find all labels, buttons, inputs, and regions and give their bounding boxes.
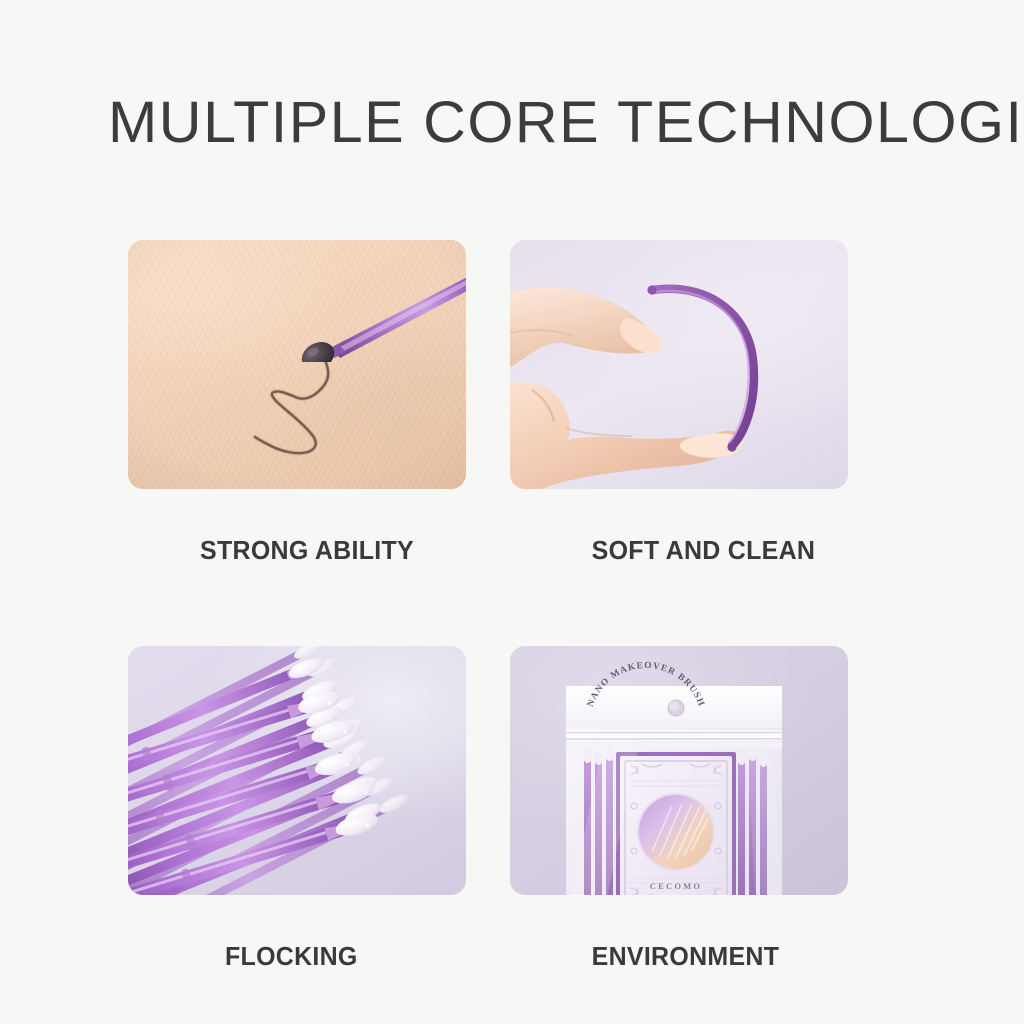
- brush-bundle-icon: [128, 646, 466, 895]
- zip-pouch-packaging-icon: NANO MAKEOVER BRUSH CECOMO: [510, 646, 848, 895]
- feature-card-soft-and-clean: SOFT AND CLEAN: [510, 240, 848, 566]
- feature-card-flocking: FLOCKING: [128, 646, 466, 972]
- feature-card-environment: NANO MAKEOVER BRUSH CECOMO ENVIRONMENT: [510, 646, 848, 972]
- feature-caption-soft-and-clean: SOFT AND CLEAN: [517, 535, 841, 566]
- feature-image-brush-drawing-line-on-skin: [128, 240, 466, 489]
- feature-panel-grid: STRONG ABILITY: [128, 240, 848, 988]
- hand-bending-brush-icon: [510, 240, 848, 489]
- feature-image-hand-bending-flexible-brush: [510, 240, 848, 489]
- feature-image-resealable-pouch-packaging: NANO MAKEOVER BRUSH CECOMO: [510, 646, 848, 895]
- product-infographic: MULTIPLE CORE TECHNOLOGIES: [0, 0, 1024, 1024]
- micro-brush-icon: [280, 254, 466, 362]
- page-title: MULTIPLE CORE TECHNOLOGIES: [108, 92, 975, 154]
- feature-card-strong-ability: STRONG ABILITY: [128, 240, 466, 566]
- feature-caption-environment: ENVIRONMENT: [517, 941, 841, 972]
- feature-caption-strong-ability: STRONG ABILITY: [135, 535, 459, 566]
- feature-image-pile-of-flocked-micro-brushes: [128, 646, 466, 895]
- feature-caption-flocking: FLOCKING: [135, 941, 459, 972]
